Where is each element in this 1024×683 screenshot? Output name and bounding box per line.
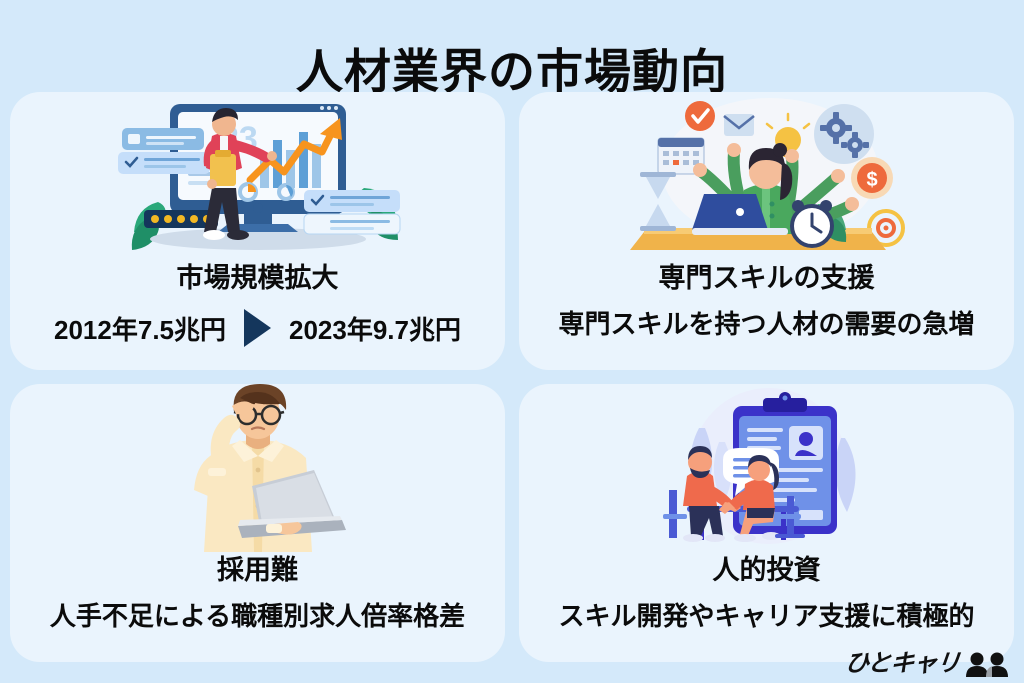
stat-value-from: 2012年7.5兆円	[54, 310, 226, 347]
card-heading: 専門スキルの支援	[659, 262, 875, 294]
infographic-page: 人材業界の市場動向	[0, 0, 1024, 683]
card-heading: 人的投資	[713, 554, 821, 586]
card-heading: 市場規模拡大	[177, 262, 339, 294]
multitasking-woman-with-laptop-icon: $	[519, 92, 1014, 260]
brand-logo: ひとキャリ	[845, 649, 1010, 679]
stat-value-to: 2023年9.7兆円	[289, 310, 461, 347]
card-subtitle: 専門スキルを持つ人材の需要の急増	[558, 309, 974, 340]
card-subtitle: 人手不足による職種別求人倍率格差	[50, 601, 465, 632]
brand-logo-text: ひとキャリ	[843, 652, 960, 676]
right-triangle-arrow-icon	[244, 309, 271, 347]
card-heading: 採用難	[217, 554, 298, 586]
market-size-stat-row: 2012年7.5兆円 2023年9.7兆円	[10, 309, 505, 347]
card-subtitle: スキル開発やキャリア支援に積極的	[558, 601, 974, 632]
interview-with-resume-clipboard-icon	[519, 384, 1014, 552]
puzzled-man-holding-laptop-icon	[10, 384, 505, 552]
two-people-icon	[964, 651, 1010, 677]
card-market-growth: 23	[10, 92, 505, 370]
card-human-capital-investment: 人的投資 スキル開発やキャリア支援に積極的	[519, 384, 1014, 662]
analyst-with-dashboard-chart-icon: 23	[10, 92, 505, 260]
card-specialist-skills: $	[519, 92, 1014, 370]
svg-text:$: $	[866, 169, 877, 191]
card-hiring-difficulty: 採用難 人手不足による職種別求人倍率格差	[10, 384, 505, 662]
card-grid: 23	[10, 92, 1014, 652]
